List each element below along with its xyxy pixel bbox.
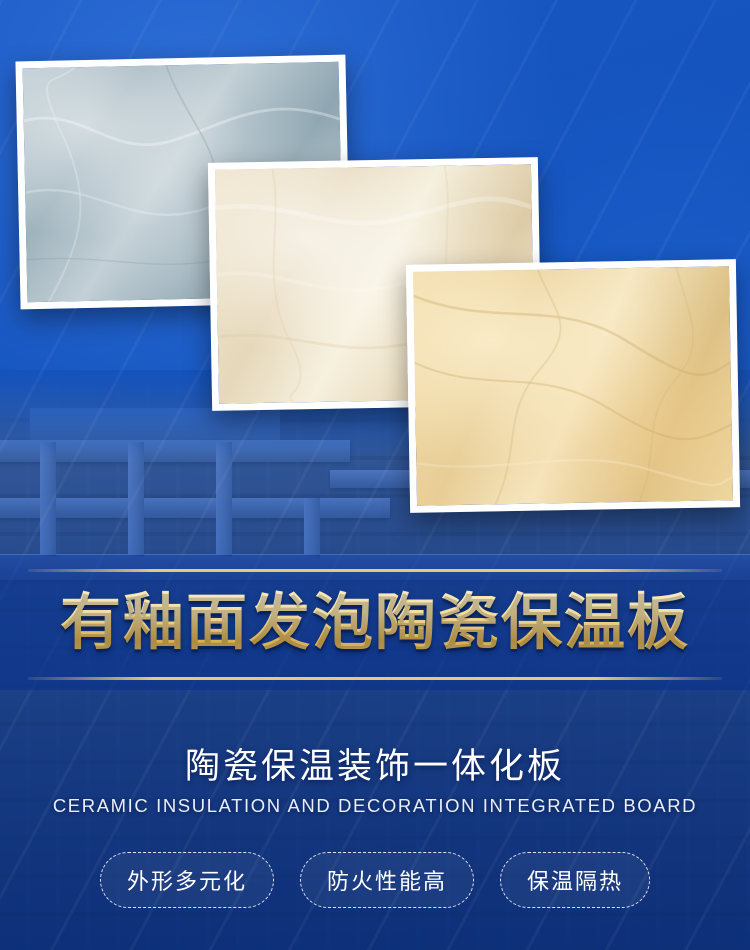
product-poster: 有釉面发泡陶瓷保温板 陶瓷保温装饰一体化板 CERAMIC INSULATION… — [0, 0, 750, 950]
title-rule-bottom — [28, 677, 722, 680]
subtitle-chinese: 陶瓷保温装饰一体化板 — [0, 738, 750, 789]
feature-pill-1[interactable]: 外形多元化 — [100, 852, 274, 908]
gold-marble-veins-icon — [413, 266, 733, 509]
feature-pill-3[interactable]: 保温隔热 — [500, 852, 650, 908]
title-rule-top — [28, 569, 722, 572]
page-title: 有釉面发泡陶瓷保温板 — [0, 577, 750, 669]
feature-pill-group: 外形多元化 防火性能高 保温隔热 — [0, 852, 750, 908]
gold-marble-tile — [406, 259, 740, 513]
feature-pill-2[interactable]: 防火性能高 — [300, 852, 474, 908]
subtitle-english: CERAMIC INSULATION AND DECORATION INTEGR… — [0, 795, 750, 817]
